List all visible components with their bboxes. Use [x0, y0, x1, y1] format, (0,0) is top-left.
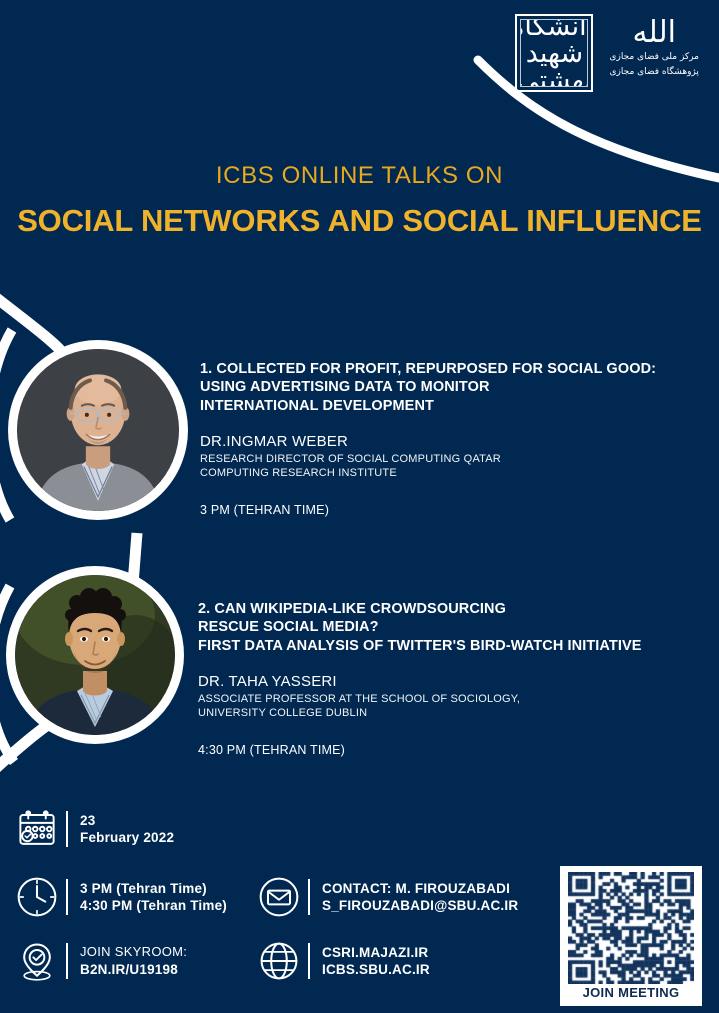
qr-label: JOIN MEETING	[583, 985, 680, 1000]
info-date-divider	[66, 811, 68, 847]
talk-1-block: 1. COLLECTED FOR PROFIT, REPURPOSED FOR …	[200, 360, 700, 517]
event-poster: دانشگاه شهید بهشتی الله مرکز ملی فضای مج…	[0, 0, 719, 1013]
info-venue-label: JOIN SKYROOM:	[80, 944, 187, 961]
upper-left-dash	[0, 296, 62, 352]
info-contact-text: CONTACT: M. FIROUZABADI S_FIROUZABADI@SB…	[322, 880, 518, 915]
talk-1-title-line2: USING ADVERTISING DATA TO MONITOR	[200, 378, 700, 396]
csri-logo: الله مرکز ملی فضای مجازی پژوهشگاه فضای م…	[609, 14, 699, 78]
info-web-link1[interactable]: CSRI.MAJAZI.IR	[322, 944, 430, 961]
location-pin-check-icon	[14, 938, 60, 984]
info-time-talk1: 3 PM (Tehran Time)	[80, 880, 227, 897]
speaker-2-photo	[15, 575, 175, 735]
talk-2-title: 2. CAN WIKIPEDIA-LIKE CROWDSOURCING RESC…	[198, 600, 708, 655]
info-date-text: 23 February 2022	[80, 812, 174, 847]
info-venue-divider	[66, 943, 68, 979]
talk-1-time: 3 PM (TEHRAN TIME)	[200, 503, 700, 517]
talk-2-block: 2. CAN WIKIPEDIA-LIKE CROWDSOURCING RESC…	[198, 600, 708, 757]
qr-code-image[interactable]	[568, 872, 694, 984]
envelope-icon	[256, 874, 302, 920]
speaker-1-portrait-ring	[8, 340, 188, 520]
talk-1-affiliation-line2: COMPUTING RESEARCH INSTITUTE	[200, 466, 700, 481]
iran-emblem-icon: الله	[632, 18, 676, 48]
talk-1-title-line3: INTERNATIONAL DEVELOPMENT	[200, 397, 700, 415]
talk-1-speaker-name: DR.INGMAR WEBER	[200, 433, 700, 450]
shahid-beheshti-university-logo: دانشگاه شهید بهشتی	[515, 14, 593, 92]
poster-kicker: ICBS ONLINE TALKS ON	[0, 162, 719, 190]
info-date-month-year: February 2022	[80, 829, 174, 846]
talk-2-affiliation-line2: UNIVERSITY COLLEGE DUBLIN	[198, 706, 708, 721]
info-contact-email[interactable]: S_FIROUZABADI@SBU.AC.IR	[322, 897, 518, 914]
qr-join-meeting-card[interactable]: JOIN MEETING	[560, 866, 702, 1006]
csri-logo-line2: پژوهشگاه فضای مجازی	[610, 66, 699, 78]
info-time-divider	[66, 879, 68, 915]
speaker-1-photo	[17, 349, 179, 511]
info-web-text: CSRI.MAJAZI.IR ICBS.SBU.AC.IR	[322, 944, 430, 979]
info-time: 3 PM (Tehran Time) 4:30 PM (Tehran Time)	[14, 874, 227, 920]
csri-logo-line1: مرکز ملی فضای مجازی	[609, 51, 699, 63]
talk-2-speaker-name: DR. TAHA YASSERI	[198, 673, 708, 690]
poster-headline: SOCIAL NETWORKS AND SOCIAL INFLUENCE	[0, 203, 719, 239]
info-web[interactable]: CSRI.MAJAZI.IR ICBS.SBU.AC.IR	[256, 938, 430, 984]
talk-2-title-line1: 2. CAN WIKIPEDIA-LIKE CROWDSOURCING	[198, 600, 708, 618]
talk-2-title-line2: RESCUE SOCIAL MEDIA?	[198, 618, 708, 636]
talk-2-affiliation-line1: ASSOCIATE PROFESSOR AT THE SCHOOL OF SOC…	[198, 692, 708, 707]
info-contact-person: CONTACT: M. FIROUZABADI	[322, 880, 518, 897]
talk-2-time: 4:30 PM (TEHRAN TIME)	[198, 743, 708, 757]
sbu-logo-text: دانشگاه شهید بهشتی	[520, 19, 588, 87]
info-venue[interactable]: JOIN SKYROOM: B2N.IR/U19198	[14, 938, 187, 984]
talk-1-title-line1: 1. COLLECTED FOR PROFIT, REPURPOSED FOR …	[200, 360, 700, 378]
info-web-divider	[308, 943, 310, 979]
globe-icon	[256, 938, 302, 984]
info-web-link2[interactable]: ICBS.SBU.AC.IR	[322, 961, 430, 978]
speaker-2-portrait-ring	[6, 566, 184, 744]
info-venue-text: JOIN SKYROOM: B2N.IR/U19198	[80, 944, 187, 978]
info-time-text: 3 PM (Tehran Time) 4:30 PM (Tehran Time)	[80, 880, 227, 915]
info-time-talk2: 4:30 PM (Tehran Time)	[80, 897, 227, 914]
info-date: 23 February 2022	[14, 806, 174, 852]
talk-1-affiliation-line1: RESEARCH DIRECTOR OF SOCIAL COMPUTING QA…	[200, 452, 700, 467]
logo-row: دانشگاه شهید بهشتی الله مرکز ملی فضای مج…	[515, 14, 699, 92]
talk-2-title-line3: FIRST DATA ANALYSIS OF TWITTER'S BIRD-WA…	[198, 637, 708, 655]
info-contact[interactable]: CONTACT: M. FIROUZABADI S_FIROUZABADI@SB…	[256, 874, 518, 920]
clock-icon	[14, 874, 60, 920]
info-contact-divider	[308, 879, 310, 915]
info-date-day: 23	[80, 812, 174, 829]
talk-1-title: 1. COLLECTED FOR PROFIT, REPURPOSED FOR …	[200, 360, 700, 415]
info-venue-link[interactable]: B2N.IR/U19198	[80, 961, 187, 978]
calendar-icon	[14, 806, 60, 852]
